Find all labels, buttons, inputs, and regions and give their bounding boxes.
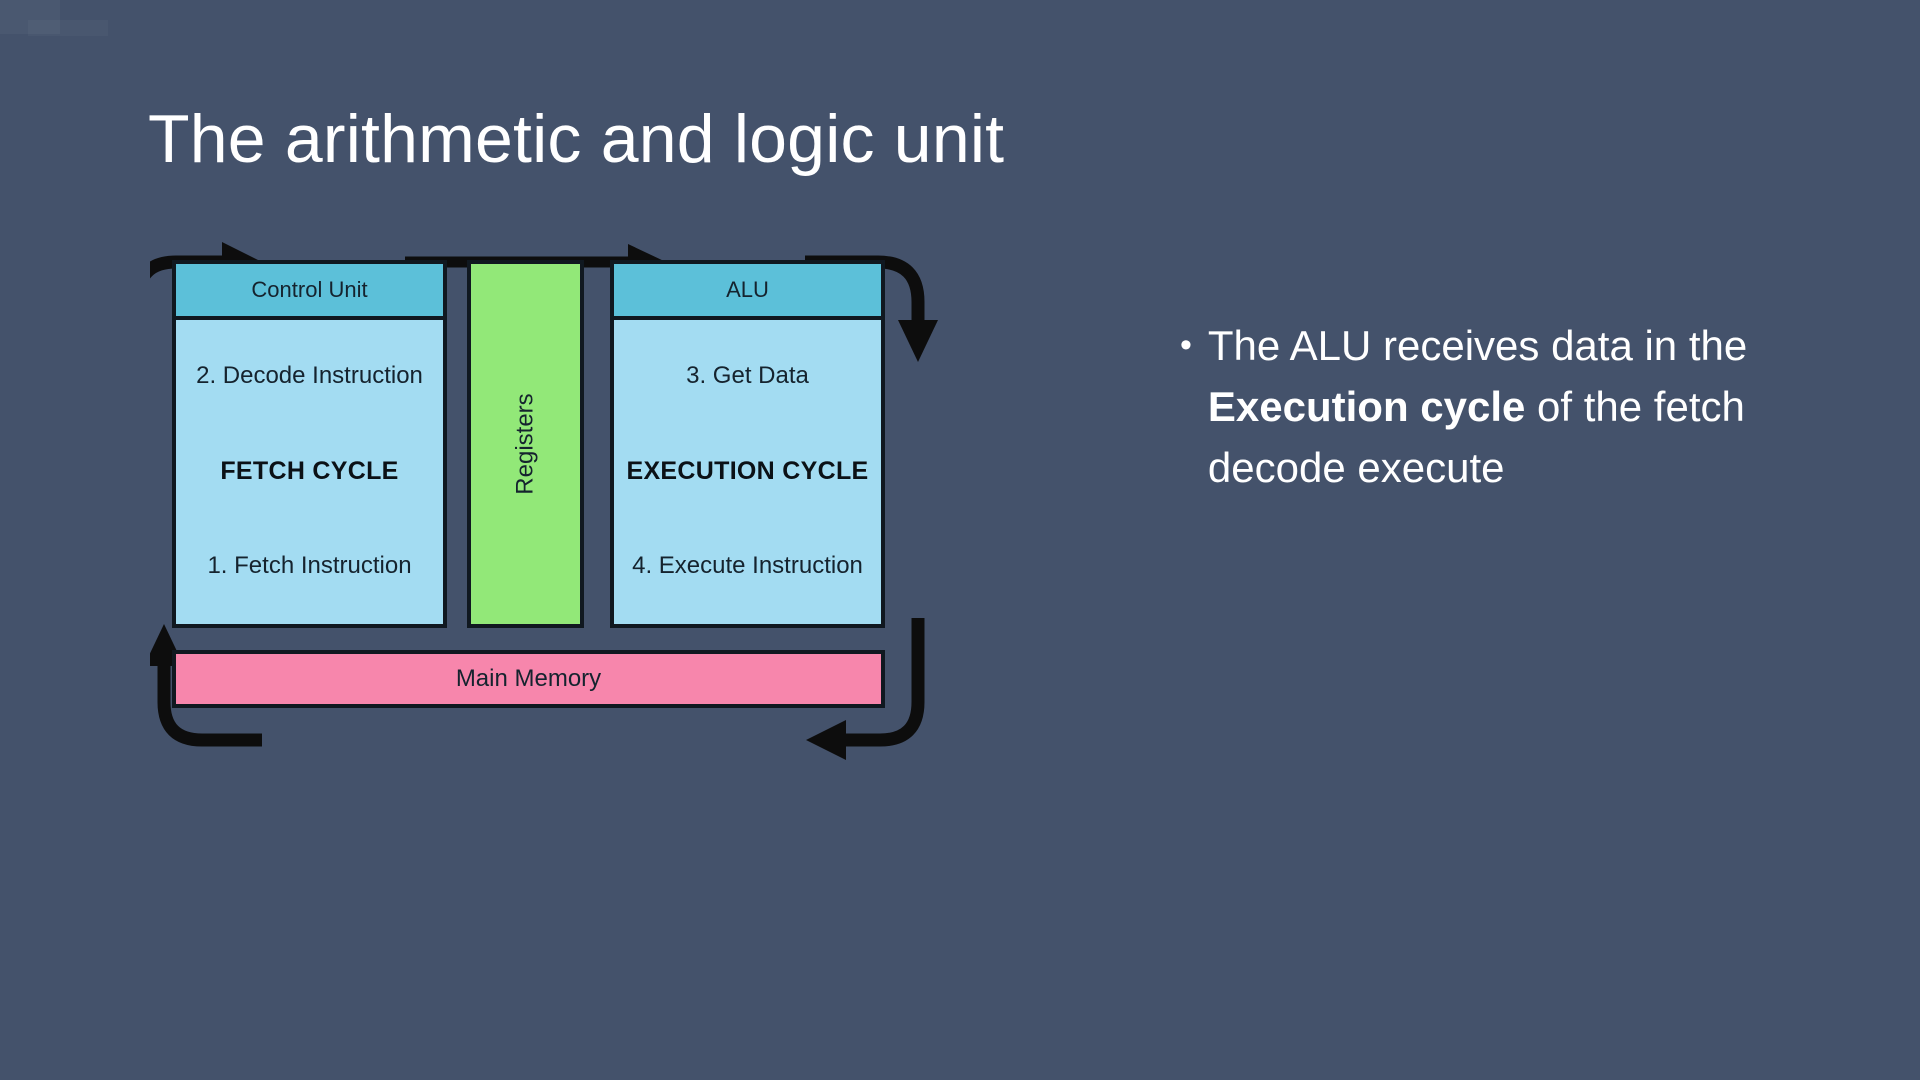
bullet-text-before: The ALU receives data in the — [1208, 322, 1747, 369]
main-memory-label: Main Memory — [456, 665, 601, 693]
main-memory-box[interactable]: Main Memory — [172, 650, 885, 708]
control-unit-box[interactable]: Control Unit 2. Decode Instruction FETCH… — [172, 260, 447, 628]
control-unit-step-decode: 2. Decode Instruction — [196, 362, 423, 390]
corner-artifact-secondary — [28, 20, 108, 36]
fetch-cycle-label: FETCH CYCLE — [220, 457, 398, 486]
control-unit-body: 2. Decode Instruction FETCH CYCLE 1. Fet… — [176, 320, 443, 624]
control-unit-header: Control Unit — [176, 264, 443, 320]
alu-step-get-data: 3. Get Data — [686, 362, 809, 390]
bullet-list: • The ALU receives data in the Execution… — [1180, 315, 1880, 498]
registers-label: Registers — [512, 393, 540, 494]
bullet-text: The ALU receives data in the Execution c… — [1208, 315, 1880, 498]
page-title: The arithmetic and logic unit — [148, 105, 1004, 173]
bullet-point-icon: • — [1180, 315, 1192, 376]
registers-box[interactable]: Registers — [467, 260, 584, 628]
alu-step-execute: 4. Execute Instruction — [632, 552, 863, 580]
alu-box[interactable]: ALU 3. Get Data EXECUTION CYCLE 4. Execu… — [610, 260, 885, 628]
execution-cycle-label: EXECUTION CYCLE — [626, 457, 868, 486]
alu-body: 3. Get Data EXECUTION CYCLE 4. Execute I… — [614, 320, 881, 624]
slide-canvas: The arithmetic and logic unit — [0, 0, 1920, 1080]
control-unit-step-fetch: 1. Fetch Instruction — [207, 552, 411, 580]
alu-header: ALU — [614, 264, 881, 320]
bullet-text-bold: Execution cycle — [1208, 383, 1525, 430]
fetch-decode-execute-cycle-diagram: Control Unit 2. Decode Instruction FETCH… — [150, 240, 1180, 910]
